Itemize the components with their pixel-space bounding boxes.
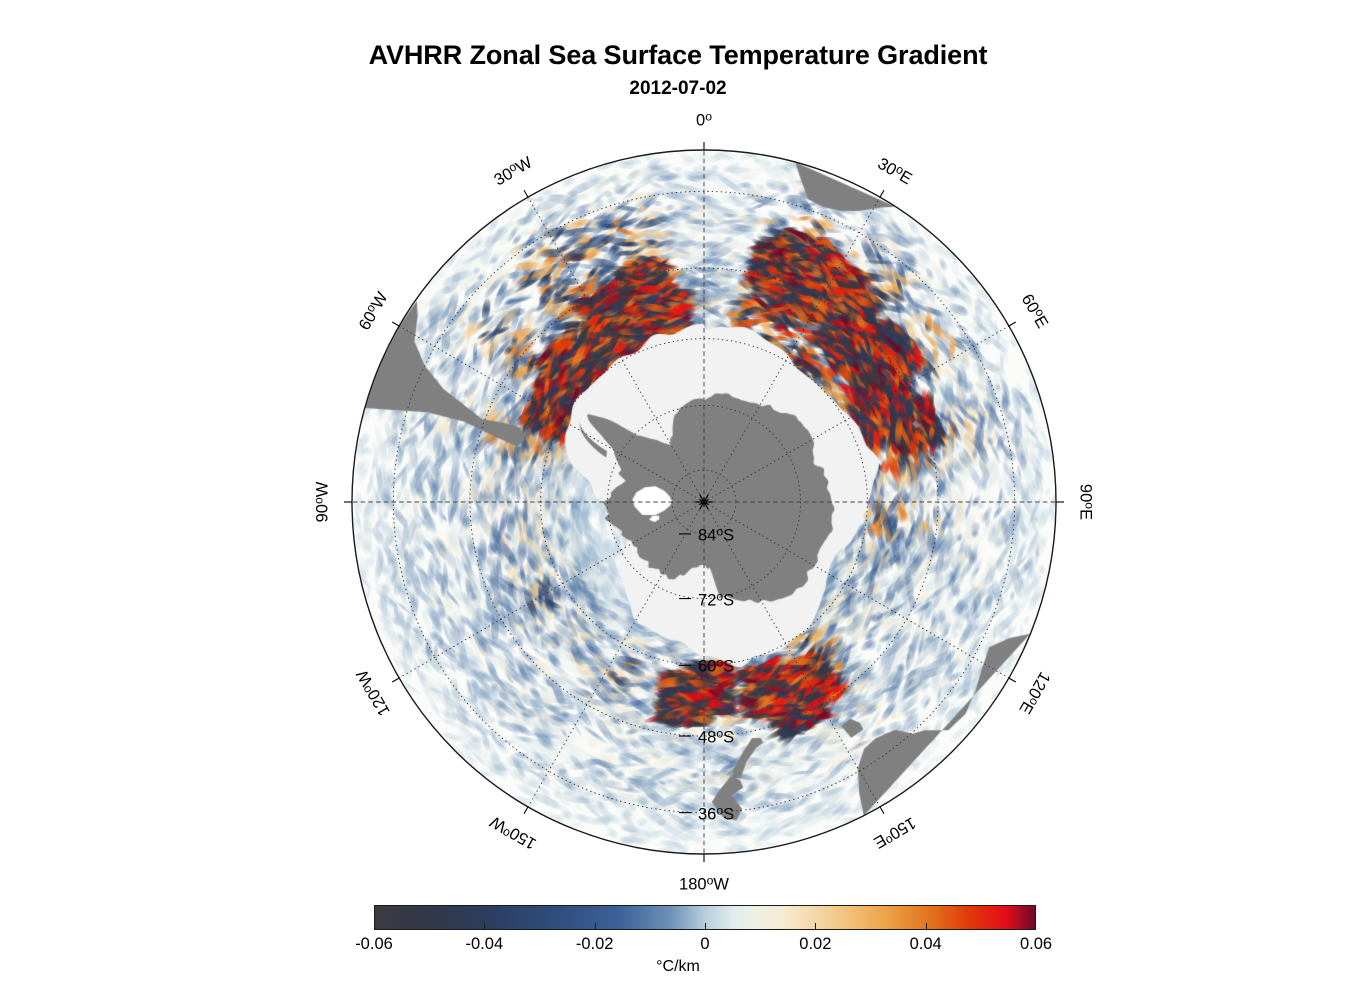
colorbar-tick [705,923,706,930]
colorbar-tick [484,923,485,930]
colorbar-tick [595,923,596,930]
colorbar-group: -0.06-0.04-0.0200.020.040.06 °C/km [0,0,1356,1000]
colorbar-tick-label: 0 [645,935,765,954]
colorbar-unit-label: °C/km [0,958,1356,976]
colorbar-tick-label: -0.02 [535,935,655,954]
colorbar-tick [926,923,927,930]
colorbar-tick-label: -0.04 [424,935,544,954]
colorbar-tick-label: 0.04 [866,935,986,954]
figure-root: AVHRR Zonal Sea Surface Temperature Grad… [0,0,1356,1000]
colorbar-tick-label: 0.06 [976,935,1096,954]
colorbar-tick-label: 0.02 [755,935,875,954]
colorbar-tick-label: -0.06 [314,935,434,954]
colorbar-tick [815,923,816,930]
